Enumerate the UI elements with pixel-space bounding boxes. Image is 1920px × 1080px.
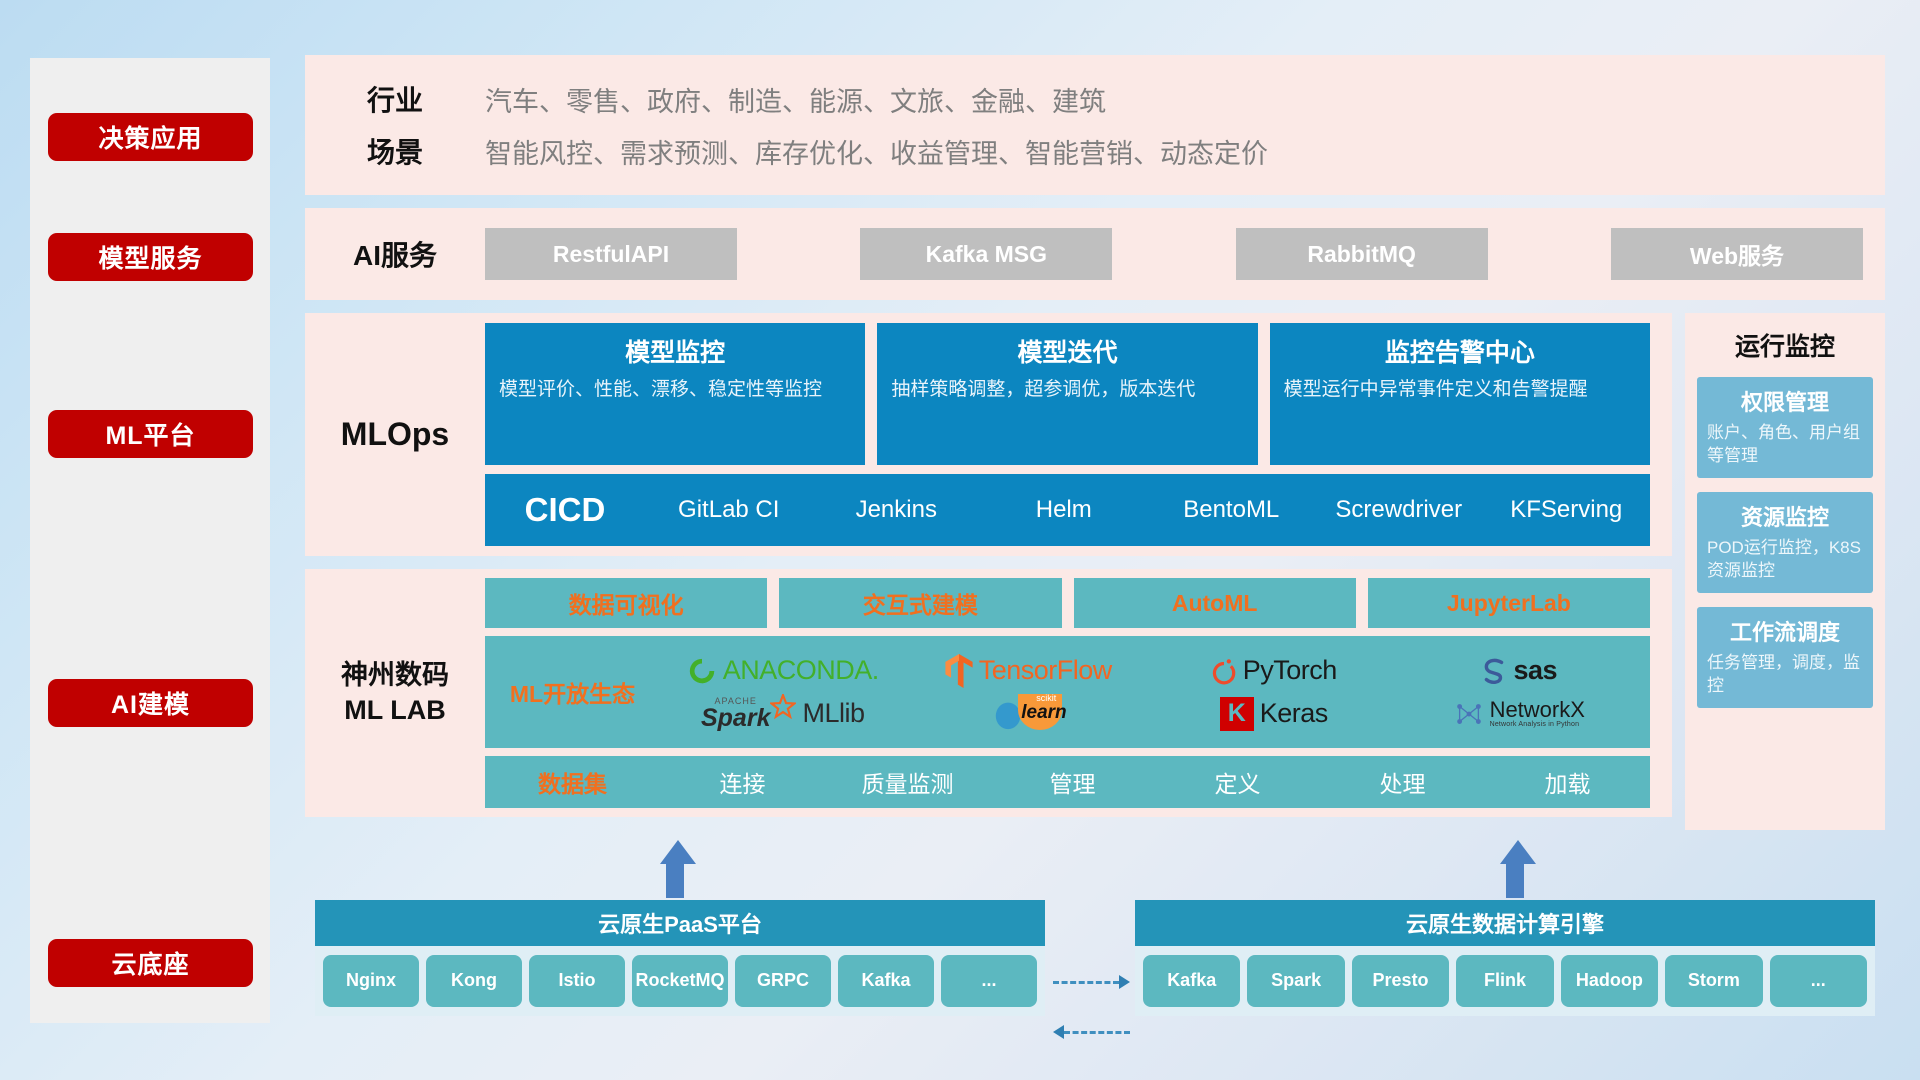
engine-chip-storm[interactable]: Storm: [1665, 955, 1762, 1007]
service-chip-web[interactable]: Web服务: [1611, 228, 1863, 280]
paas-chips: Nginx Kong Istio RocketMQ GRPC Kafka ...: [315, 946, 1045, 1016]
paas-chip-more[interactable]: ...: [941, 955, 1037, 1007]
card-title: 权限管理: [1707, 385, 1863, 417]
learn-text: learn: [1021, 702, 1066, 724]
rail-item-ai-modeling[interactable]: AI建模: [48, 679, 253, 727]
data-engine-chips: Kafka Spark Presto Flink Hadoop Storm ..…: [1135, 946, 1875, 1016]
sas-icon: [1481, 657, 1507, 685]
tensorflow-icon: [945, 654, 973, 688]
mlops-label: MLOps: [305, 416, 485, 453]
paas-chip-kafka[interactable]: Kafka: [838, 955, 934, 1007]
card-desc: 账户、角色、用户组等管理: [1707, 422, 1863, 468]
rail-label: 云底座: [111, 945, 189, 981]
ml-ecosystem-row: ML开放生态 ANACONDA.: [485, 636, 1650, 748]
ai-service-band: AI服务 RestfulAPI Kafka MSG RabbitMQ Web服务: [305, 208, 1885, 300]
data-engine-up-arrow-icon: [1500, 840, 1530, 898]
card-title: 模型监控: [499, 333, 851, 369]
keras-logo: K Keras: [1220, 697, 1328, 731]
cicd-title: CICD: [485, 491, 645, 529]
networkx-logo: NetworkX Network Analysis in Python: [1454, 699, 1585, 729]
paas-chip-grpc[interactable]: GRPC: [735, 955, 831, 1007]
monitoring-column: 运行监控 权限管理 账户、角色、用户组等管理 资源监控 POD运行监控，K8S资…: [1685, 313, 1885, 830]
monitor-card-resource[interactable]: 资源监控 POD运行监控，K8S资源监控: [1697, 492, 1873, 593]
service-chip-kafka-msg[interactable]: Kafka MSG: [860, 228, 1112, 280]
card-desc: 抽样策略调整，超参调优，版本迭代: [891, 377, 1243, 403]
lab-tool-interactive-modeling[interactable]: 交互式建模: [779, 578, 1061, 628]
engine-to-paas-arrow-icon: [1053, 1025, 1130, 1039]
card-desc: POD运行监控，K8S资源监控: [1707, 537, 1863, 583]
main-column: 行业 汽车、零售、政府、制造、能源、文旅、金融、建筑 场景 智能风控、需求预测、…: [305, 55, 1885, 843]
dataset-item-process[interactable]: 处理: [1320, 765, 1485, 799]
sas-wordmark: sas: [1513, 655, 1557, 686]
networkx-tagline: Network Analysis in Python: [1490, 721, 1585, 728]
dataset-item-connect[interactable]: 连接: [660, 765, 825, 799]
scenario-label: 场景: [305, 131, 485, 171]
rail-label: 模型服务: [98, 239, 202, 275]
paas-chip-nginx[interactable]: Nginx: [323, 955, 419, 1007]
scikit-learn-logo: scikit learn: [992, 692, 1064, 735]
card-title: 工作流调度: [1707, 615, 1863, 647]
engine-chip-presto[interactable]: Presto: [1352, 955, 1449, 1007]
cicd-item-gitlab-ci[interactable]: GitLab CI: [645, 497, 813, 522]
cicd-items: GitLab CI Jenkins Helm BentoML Screwdriv…: [645, 497, 1650, 522]
dataset-item-quality-monitor[interactable]: 质量监测: [825, 765, 990, 799]
ai-service-label: AI服务: [305, 234, 485, 274]
scenario-values: 智能风控、需求预测、库存优化、收益管理、智能营销、动态定价: [485, 132, 1268, 171]
lab-tool-jupyterlab[interactable]: JupyterLab: [1368, 578, 1650, 628]
rail-item-model-service[interactable]: 模型服务: [48, 233, 253, 281]
sas-logo: sas: [1481, 655, 1557, 686]
data-compute-engine: 云原生数据计算引擎 Kafka Spark Presto Flink Hadoo…: [1135, 900, 1875, 1016]
pytorch-logo: PyTorch: [1211, 655, 1337, 686]
industry-values: 汽车、零售、政府、制造、能源、文旅、金融、建筑: [485, 80, 1106, 119]
card-desc: 模型运行中异常事件定义和告警提醒: [1284, 377, 1636, 403]
ml-lab-label: 神州数码 ML LAB: [305, 658, 485, 728]
mlops-band: MLOps 模型监控 模型评价、性能、漂移、稳定性等监控 模型迭代 抽样策略调整…: [305, 313, 1672, 556]
dataset-item-load[interactable]: 加载: [1485, 765, 1650, 799]
ml-lab-label-line1: 神州数码: [305, 658, 485, 693]
scikit-orange-blob-icon: scikit learn: [1016, 692, 1064, 735]
engine-chip-more[interactable]: ...: [1770, 955, 1867, 1007]
ml-ecosystem-label: ML开放生态: [485, 675, 660, 709]
card-title: 监控告警中心: [1284, 333, 1636, 369]
logo-grid: ANACONDA. TensorFlow: [660, 649, 1650, 735]
paas-up-arrow-icon: [660, 840, 690, 898]
scenario-row: 场景 智能风控、需求预测、库存优化、收益管理、智能营销、动态定价: [305, 125, 1885, 177]
architecture-diagram: 决策应用 模型服务 ML平台 AI建模 云底座 行业 汽车、零售、政府、制造、能…: [0, 0, 1920, 1080]
cicd-item-screwdriver[interactable]: Screwdriver: [1315, 497, 1483, 522]
engine-chip-spark[interactable]: Spark: [1247, 955, 1344, 1007]
cicd-item-bentoml[interactable]: BentoML: [1148, 497, 1316, 522]
lab-tools-row: 数据可视化 交互式建模 AutoML JupyterLab: [485, 578, 1650, 628]
lab-tool-automl[interactable]: AutoML: [1074, 578, 1356, 628]
paas-chip-rocketmq[interactable]: RocketMQ: [632, 955, 728, 1007]
rail-label: AI建模: [111, 685, 190, 721]
ai-service-items: RestfulAPI Kafka MSG RabbitMQ Web服务: [485, 228, 1885, 280]
networkx-graph-icon: [1454, 699, 1484, 729]
rail-label: ML平台: [105, 416, 195, 452]
mlops-card-alert-center[interactable]: 监控告警中心 模型运行中异常事件定义和告警提醒: [1270, 323, 1650, 465]
rail-item-decision-app[interactable]: 决策应用: [48, 113, 253, 161]
tensorflow-wordmark: TensorFlow: [979, 655, 1112, 686]
dataset-item-manage[interactable]: 管理: [990, 765, 1155, 799]
cicd-bar: CICD GitLab CI Jenkins Helm BentoML Scre…: [485, 474, 1650, 546]
ml-lab-label-line2: ML LAB: [305, 693, 485, 728]
rail-item-cloud-base[interactable]: 云底座: [48, 939, 253, 987]
card-title: 模型迭代: [891, 333, 1243, 369]
data-engine-title: 云原生数据计算引擎: [1135, 900, 1875, 946]
anaconda-icon: [687, 656, 717, 686]
paas-title: 云原生PaaS平台: [315, 900, 1045, 946]
lab-tool-data-visualization[interactable]: 数据可视化: [485, 578, 767, 628]
anaconda-logo: ANACONDA.: [687, 655, 879, 686]
paas-chip-istio[interactable]: Istio: [529, 955, 625, 1007]
cicd-item-kfserving[interactable]: KFServing: [1483, 497, 1651, 522]
ml-lab-band: 神州数码 ML LAB 数据可视化 交互式建模 AutoML JupyterLa…: [305, 569, 1672, 817]
spark-wordmark: Spark: [701, 706, 770, 731]
spark-star-icon: [770, 694, 796, 720]
ml-lab-body: 数据可视化 交互式建模 AutoML JupyterLab ML开放生态: [485, 578, 1650, 808]
monitor-card-workflow[interactable]: 工作流调度 任务管理，调度，监控: [1697, 607, 1873, 708]
engine-chip-hadoop[interactable]: Hadoop: [1561, 955, 1658, 1007]
service-chip-rabbitmq[interactable]: RabbitMQ: [1236, 228, 1488, 280]
dataset-row: 数据集 连接 质量监测 管理 定义 处理 加载: [485, 756, 1650, 808]
mlops-card-model-monitor[interactable]: 模型监控 模型评价、性能、漂移、稳定性等监控: [485, 323, 865, 465]
dataset-label: 数据集: [485, 765, 660, 799]
rail-label: 决策应用: [98, 119, 202, 155]
mlops-cards: 模型监控 模型评价、性能、漂移、稳定性等监控 模型迭代 抽样策略调整，超参调优，…: [485, 323, 1650, 465]
decision-app-band: 行业 汽车、零售、政府、制造、能源、文旅、金融、建筑 场景 智能风控、需求预测、…: [305, 55, 1885, 195]
dataset-item-define[interactable]: 定义: [1155, 765, 1320, 799]
pytorch-icon: [1211, 656, 1237, 686]
paas-chip-kong[interactable]: Kong: [426, 955, 522, 1007]
card-desc: 任务管理，调度，监控: [1707, 652, 1863, 698]
keras-wordmark: Keras: [1260, 698, 1328, 729]
mlops-body: 模型监控 模型评价、性能、漂移、稳定性等监控 模型迭代 抽样策略调整，超参调优，…: [485, 323, 1650, 546]
spark-mllib-logo: APACHE Spark MLlib: [701, 697, 865, 731]
keras-k-icon: K: [1220, 697, 1254, 731]
networkx-wordmark: NetworkX: [1490, 699, 1585, 721]
rail-item-ml-platform[interactable]: ML平台: [48, 410, 253, 458]
card-desc: 模型评价、性能、漂移、稳定性等监控: [499, 377, 851, 403]
cicd-item-helm[interactable]: Helm: [980, 497, 1148, 522]
engine-chip-flink[interactable]: Flink: [1456, 955, 1553, 1007]
cloud-base-section: 云原生PaaS平台 Nginx Kong Istio RocketMQ GRPC…: [305, 870, 1885, 1030]
anaconda-wordmark: ANACONDA.: [723, 655, 879, 686]
mlops-card-model-iteration[interactable]: 模型迭代 抽样策略调整，超参调优，版本迭代: [877, 323, 1257, 465]
industry-label: 行业: [305, 79, 485, 119]
industry-row: 行业 汽车、零售、政府、制造、能源、文旅、金融、建筑: [305, 73, 1885, 125]
monitoring-title: 运行监控: [1697, 327, 1873, 363]
pytorch-wordmark: PyTorch: [1243, 655, 1337, 686]
paas-platform: 云原生PaaS平台 Nginx Kong Istio RocketMQ GRPC…: [315, 900, 1045, 1016]
platform-left: MLOps 模型监控 模型评价、性能、漂移、稳定性等监控 模型迭代 抽样策略调整…: [305, 313, 1672, 830]
dataset-items: 连接 质量监测 管理 定义 处理 加载: [660, 765, 1650, 799]
platform-section: MLOps 模型监控 模型评价、性能、漂移、稳定性等监控 模型迭代 抽样策略调整…: [305, 313, 1885, 830]
card-title: 资源监控: [1707, 500, 1863, 532]
service-chip-restfulapi[interactable]: RestfulAPI: [485, 228, 737, 280]
cicd-item-jenkins[interactable]: Jenkins: [813, 497, 981, 522]
mllib-wordmark: MLlib: [802, 698, 864, 729]
tensorflow-logo: TensorFlow: [945, 654, 1112, 688]
layer-rail: 决策应用 模型服务 ML平台 AI建模 云底座: [30, 58, 270, 1023]
monitor-card-permission[interactable]: 权限管理 账户、角色、用户组等管理: [1697, 377, 1873, 478]
paas-to-engine-arrow-icon: [1053, 975, 1130, 989]
engine-chip-kafka[interactable]: Kafka: [1143, 955, 1240, 1007]
